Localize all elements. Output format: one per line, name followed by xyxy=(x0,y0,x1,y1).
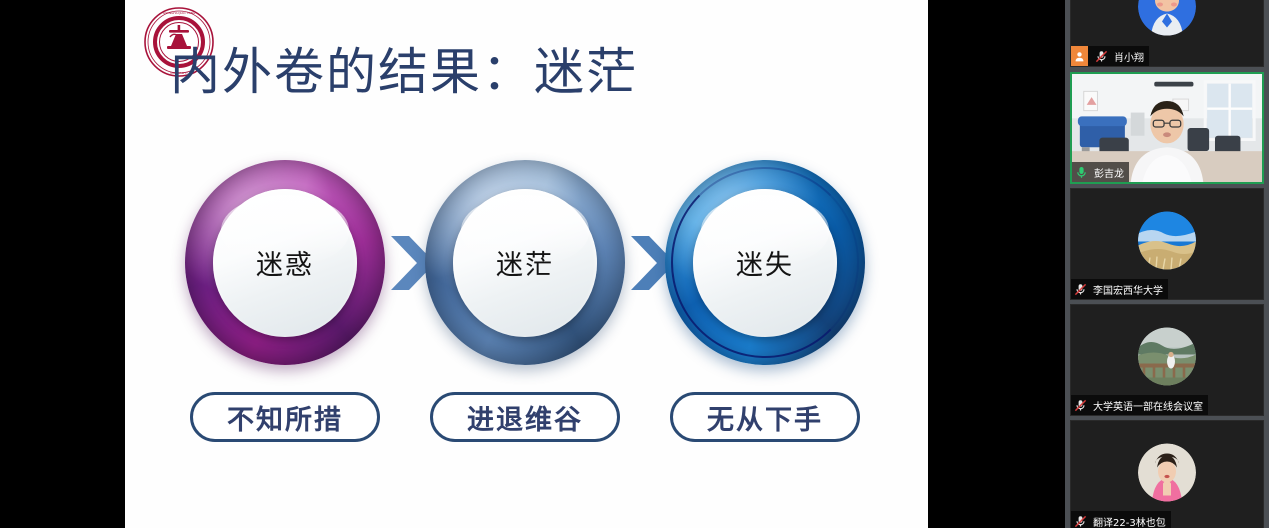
stage-pill-label-3: 无从下手 xyxy=(707,398,823,437)
stage-pill-2[interactable]: 进退维谷 xyxy=(430,392,620,442)
participant-tile-2[interactable]: 彭吉龙 xyxy=(1070,72,1264,184)
stage-circle-label-3: 迷失 xyxy=(736,243,794,282)
screen-root: SHANGHAI JIAO TONG UNIVERSITY 内外卷的结果：迷茫 … xyxy=(0,0,1269,528)
mic-muted-icon[interactable] xyxy=(1071,279,1089,299)
mic-muted-icon[interactable] xyxy=(1071,395,1089,415)
stage-inner-2: 迷茫 xyxy=(453,189,597,337)
stage-ring-2: 迷茫 xyxy=(425,160,625,365)
mic-muted-icon[interactable] xyxy=(1092,46,1110,66)
participant-name-1: 肖小翔 xyxy=(1114,49,1144,64)
stage-inner-1: 迷惑 xyxy=(213,189,357,337)
shared-screen-area[interactable]: SHANGHAI JIAO TONG UNIVERSITY 内外卷的结果：迷茫 … xyxy=(0,0,1065,528)
participant-tile-3[interactable]: 李国宏西华大学 xyxy=(1070,188,1264,300)
avatar xyxy=(1138,444,1196,502)
slide-title: 内外卷的结果：迷茫 xyxy=(170,42,910,102)
host-icon xyxy=(1071,46,1088,66)
stage-pill-label-1: 不知所措 xyxy=(227,398,343,437)
stage-pill-3[interactable]: 无从下手 xyxy=(670,392,860,442)
avatar xyxy=(1138,212,1196,270)
participant-tile-4[interactable]: 大学英语一部在线会议室 xyxy=(1070,304,1264,416)
stage-circle-2[interactable]: 迷茫 xyxy=(425,160,625,365)
stage-circle-label-2: 迷茫 xyxy=(496,243,554,282)
stage-pill-1[interactable]: 不知所措 xyxy=(190,392,380,442)
mic-muted-icon[interactable] xyxy=(1071,511,1089,528)
avatar xyxy=(1138,328,1196,386)
participant-name-5: 翻译22-3林也包 xyxy=(1093,514,1166,528)
participant-name-4: 大学英语一部在线会议室 xyxy=(1093,398,1203,413)
stage-ring-3: 迷失 xyxy=(665,160,865,365)
participant-namebar-2: 彭吉龙 xyxy=(1072,162,1129,182)
svg-text:SHANGHAI JIAO TONG: SHANGHAI JIAO TONG xyxy=(163,11,196,15)
participant-tile-5[interactable]: 翻译22-3林也包 xyxy=(1070,420,1264,528)
mic-active-icon[interactable] xyxy=(1072,162,1090,182)
participant-namebar-1: 肖小翔 xyxy=(1071,46,1149,66)
stage-circle-3[interactable]: 迷失 xyxy=(665,160,865,365)
stage-circle-1[interactable]: 迷惑 xyxy=(185,160,385,365)
stage-circle-label-1: 迷惑 xyxy=(256,243,314,282)
participant-name-2: 彭吉龙 xyxy=(1094,165,1124,180)
stage-inner-3: 迷失 xyxy=(693,189,837,337)
stage-pill-label-2: 进退维谷 xyxy=(467,398,583,437)
stage-ring-1: 迷惑 xyxy=(185,160,385,365)
three-stage-diagram: 迷惑 迷茫 xyxy=(125,160,928,460)
participant-video-panel[interactable]: 肖小翔 xyxy=(1065,0,1269,528)
participant-namebar-4: 大学英语一部在线会议室 xyxy=(1071,395,1208,415)
participant-namebar-3: 李国宏西华大学 xyxy=(1071,279,1168,299)
participant-tile-1[interactable]: 肖小翔 xyxy=(1070,0,1264,67)
participant-namebar-5: 翻译22-3林也包 xyxy=(1071,511,1171,528)
presentation-slide[interactable]: SHANGHAI JIAO TONG UNIVERSITY 内外卷的结果：迷茫 … xyxy=(125,0,928,528)
participant-name-3: 李国宏西华大学 xyxy=(1093,282,1163,297)
